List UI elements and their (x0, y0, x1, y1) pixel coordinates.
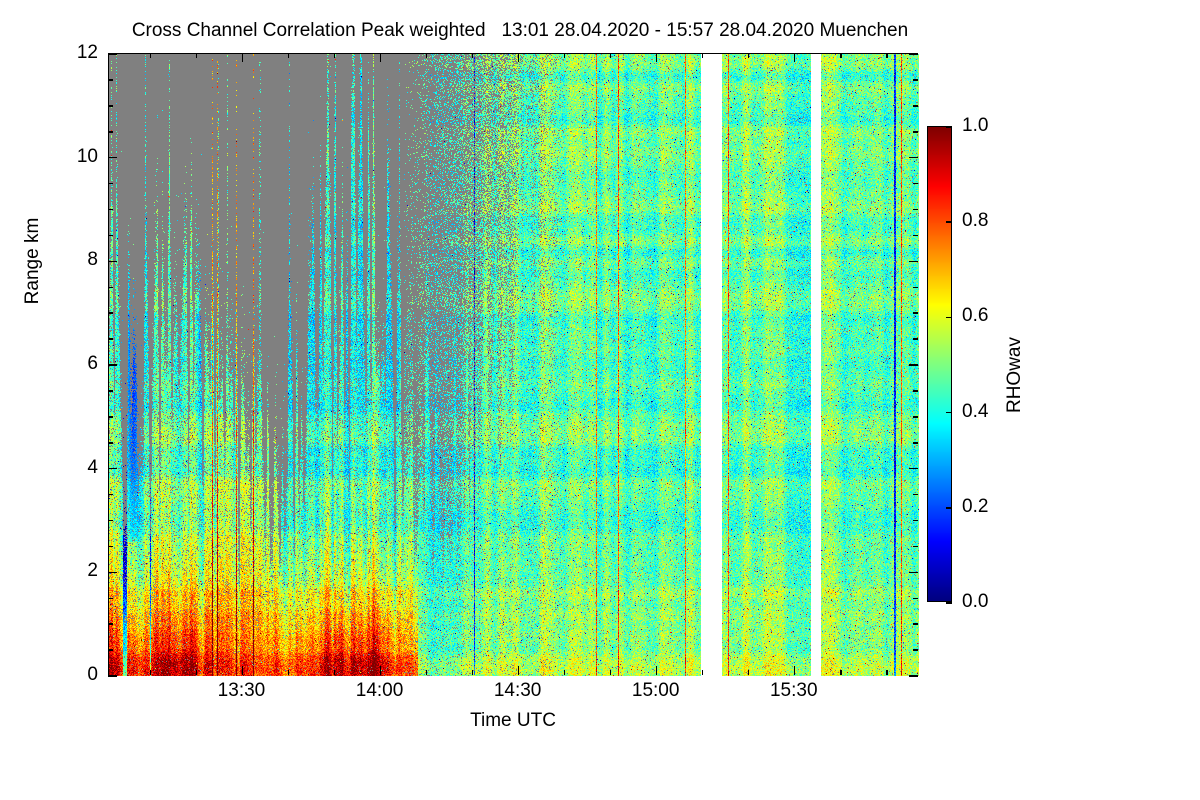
x-tick-minor (196, 53, 198, 58)
y-tick-minor (108, 390, 113, 392)
y-tick-major (108, 572, 117, 574)
y-tick-minor (108, 209, 113, 211)
y-tick-minor (108, 649, 113, 651)
x-tick-minor (702, 53, 704, 58)
y-tick-minor (913, 390, 918, 392)
y-tick-minor (108, 338, 113, 340)
y-tick-minor (108, 287, 113, 289)
x-tick-minor (610, 670, 612, 675)
x-tick-minor (472, 670, 474, 675)
y-tick-major (909, 468, 918, 470)
x-tick-minor (150, 670, 152, 675)
colorbar-tick (946, 221, 952, 223)
colorbar-tick (946, 602, 952, 604)
y-tick-minor (108, 546, 113, 548)
x-axis-label: Time UTC (108, 710, 918, 732)
colorbar-tick-label: 0.8 (962, 210, 988, 232)
y-tick-minor (913, 287, 918, 289)
y-tick-minor (108, 623, 113, 625)
x-tick-minor (564, 53, 566, 58)
x-tick-major (518, 666, 520, 675)
y-tick-minor (108, 183, 113, 185)
y-tick-minor (108, 598, 113, 600)
x-tick-minor (748, 53, 750, 58)
y-tick-minor (913, 79, 918, 81)
x-tick-minor (196, 670, 198, 675)
x-tick-minor (610, 53, 612, 58)
x-tick-minor (150, 53, 152, 58)
x-tick-label: 13:30 (218, 680, 266, 702)
heatmap-canvas (109, 54, 919, 676)
y-tick-major (909, 675, 918, 677)
figure-container: Cross Channel Correlation Peak weighted … (0, 0, 1200, 800)
y-tick-minor (913, 338, 918, 340)
x-tick-major (794, 53, 796, 62)
y-tick-minor (913, 520, 918, 522)
y-tick-minor (108, 494, 113, 496)
x-tick-label: 14:00 (356, 680, 404, 702)
x-tick-major (518, 53, 520, 62)
y-tick-minor (913, 649, 918, 651)
y-tick-label: 6 (87, 353, 98, 375)
x-tick-label: 14:30 (494, 680, 542, 702)
y-tick-minor (913, 416, 918, 418)
y-tick-minor (913, 105, 918, 107)
colorbar-tick-label: 0.0 (962, 591, 988, 613)
y-tick-label: 0 (87, 664, 98, 686)
x-tick-major (380, 666, 382, 675)
x-tick-major (656, 53, 658, 62)
y-tick-minor (913, 623, 918, 625)
y-tick-major (909, 364, 918, 366)
colorbar-label: RHOwav (1004, 295, 1026, 455)
colorbar-gradient (928, 127, 951, 601)
y-tick-minor (108, 416, 113, 418)
y-tick-label: 4 (87, 457, 98, 479)
y-tick-minor (913, 209, 918, 211)
x-tick-minor (426, 670, 428, 675)
y-tick-minor (108, 79, 113, 81)
colorbar-tick-label: 0.2 (962, 496, 988, 518)
y-tick-major (108, 675, 117, 677)
colorbar-tick (946, 507, 952, 509)
y-tick-minor (108, 131, 113, 133)
y-tick-minor (108, 312, 113, 314)
y-axis-label: Range km (22, 181, 44, 341)
y-tick-label: 10 (77, 146, 98, 168)
y-tick-label: 12 (77, 42, 98, 64)
y-tick-minor (108, 235, 113, 237)
y-tick-minor (913, 235, 918, 237)
y-tick-major (108, 468, 117, 470)
y-tick-label: 8 (87, 249, 98, 271)
x-tick-minor (886, 53, 888, 58)
x-tick-label: 15:00 (632, 680, 680, 702)
y-tick-major (108, 157, 117, 159)
x-tick-minor (564, 670, 566, 675)
colorbar[interactable] (927, 126, 952, 602)
y-tick-minor (108, 105, 113, 107)
x-tick-major (794, 666, 796, 675)
y-tick-major (909, 157, 918, 159)
x-tick-major (242, 53, 244, 62)
x-tick-major (656, 666, 658, 675)
x-tick-minor (886, 670, 888, 675)
x-tick-minor (472, 53, 474, 58)
colorbar-tick-label: 0.4 (962, 401, 988, 423)
y-tick-minor (913, 598, 918, 600)
y-tick-major (909, 572, 918, 574)
x-tick-major (380, 53, 382, 62)
x-tick-minor (840, 53, 842, 58)
colorbar-tick (946, 126, 952, 128)
y-tick-major (909, 53, 918, 55)
x-tick-label: 15:30 (770, 680, 818, 702)
y-tick-minor (913, 494, 918, 496)
x-tick-minor (702, 670, 704, 675)
x-tick-minor (840, 670, 842, 675)
x-tick-major (242, 666, 244, 675)
y-tick-minor (913, 442, 918, 444)
y-tick-minor (913, 131, 918, 133)
y-tick-major (108, 261, 117, 263)
y-tick-minor (108, 442, 113, 444)
x-tick-minor (288, 670, 290, 675)
heatmap-plot-area[interactable] (108, 53, 918, 675)
x-tick-minor (288, 53, 290, 58)
y-tick-minor (913, 183, 918, 185)
y-tick-major (108, 364, 117, 366)
y-tick-minor (108, 520, 113, 522)
colorbar-tick-label: 1.0 (962, 115, 988, 137)
x-tick-minor (334, 670, 336, 675)
colorbar-tick-label: 0.6 (962, 305, 988, 327)
x-tick-minor (748, 670, 750, 675)
y-tick-major (108, 53, 117, 55)
y-tick-minor (913, 312, 918, 314)
x-tick-minor (426, 53, 428, 58)
colorbar-tick (946, 412, 952, 414)
chart-title: Cross Channel Correlation Peak weighted … (0, 20, 1040, 42)
y-tick-minor (913, 546, 918, 548)
x-tick-minor (334, 53, 336, 58)
y-tick-major (909, 261, 918, 263)
y-tick-label: 2 (87, 560, 98, 582)
colorbar-tick (946, 317, 952, 319)
